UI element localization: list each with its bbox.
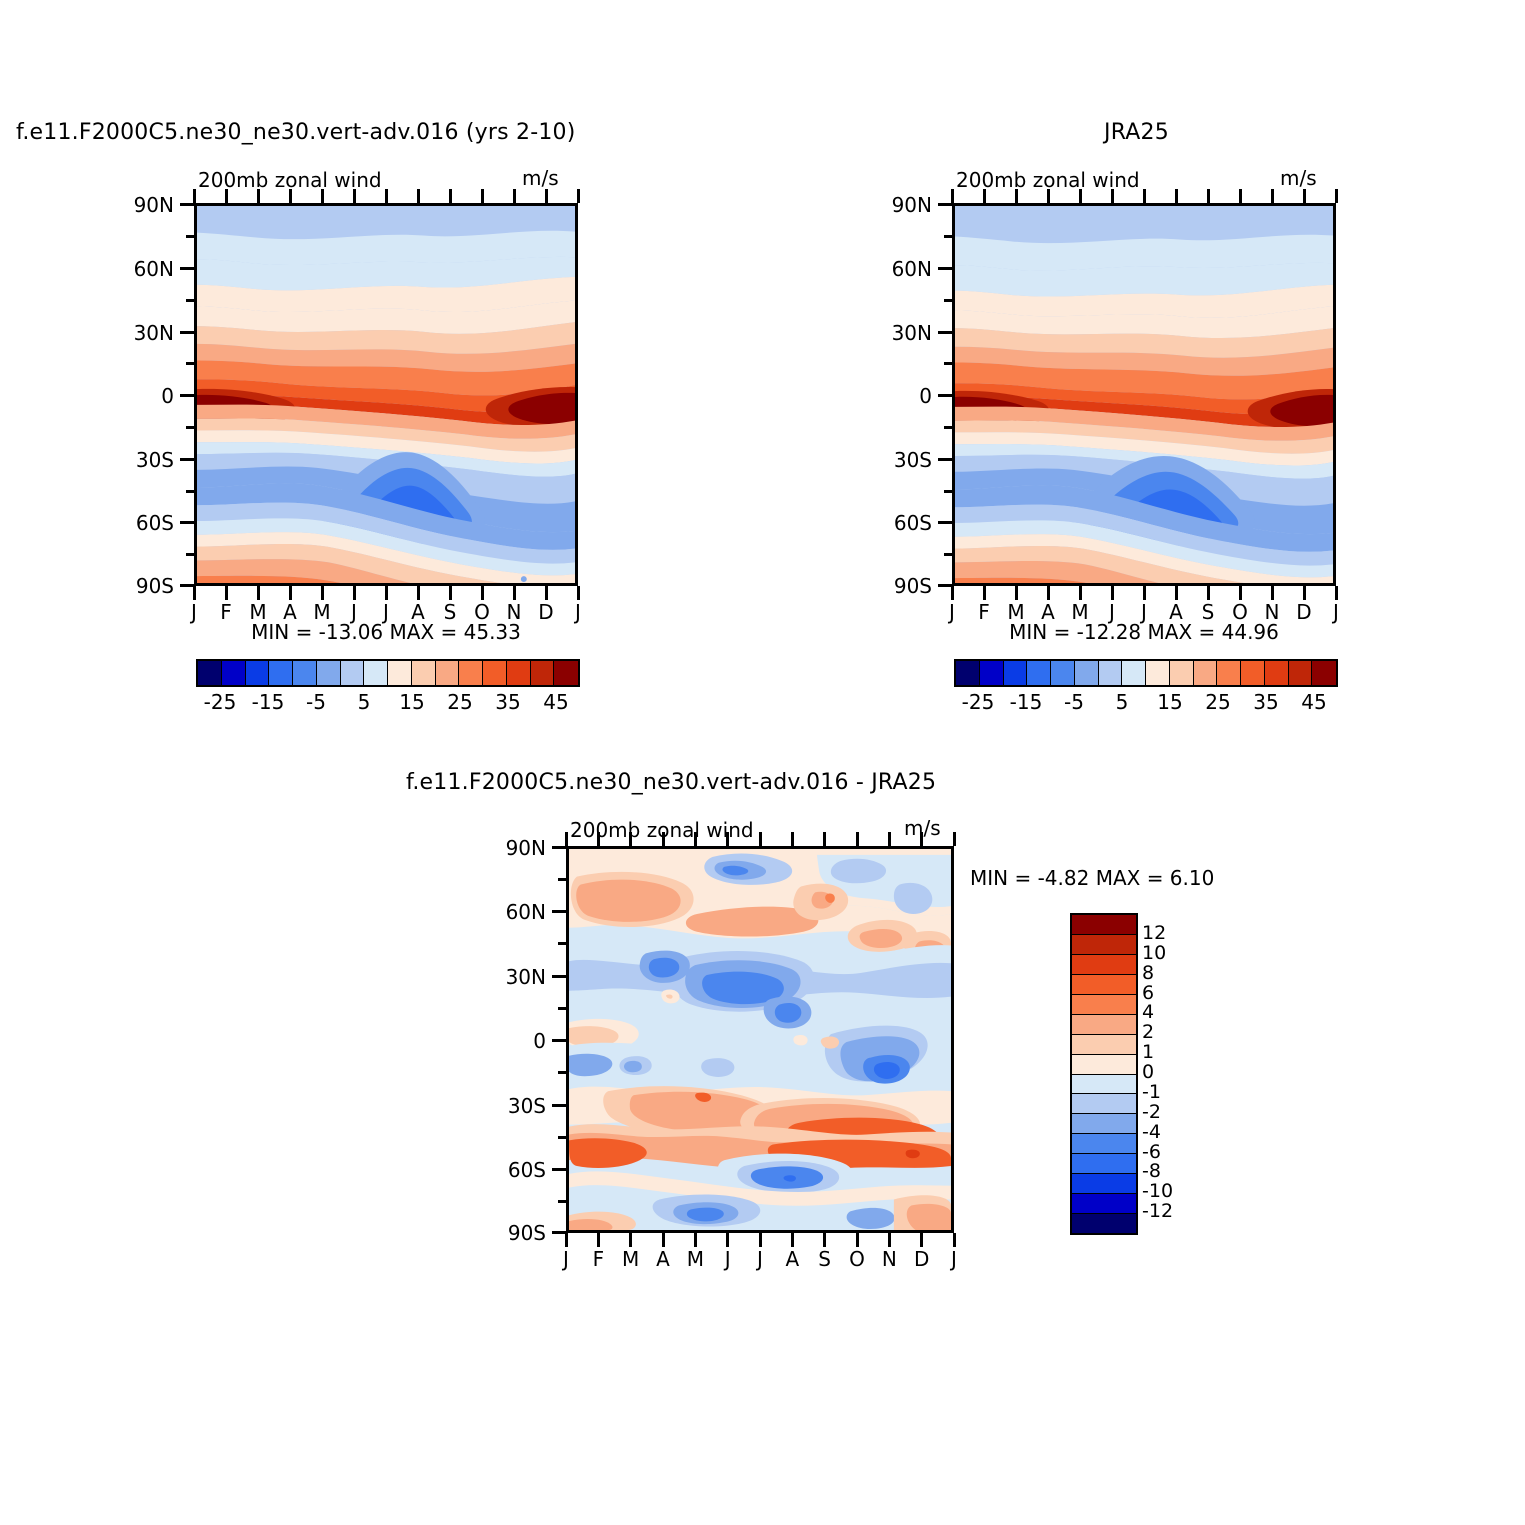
- xaxis-obs-tick-2: [1015, 586, 1018, 600]
- plot-area-model[interactable]: [194, 203, 578, 586]
- colorbar-difference-ticklabel-8: -1: [1142, 1081, 1161, 1103]
- top-tick-12: [953, 832, 956, 846]
- colorbar-difference-ticklabel-1: 10: [1142, 942, 1166, 964]
- xaxis-diff-tick-9: [856, 1233, 859, 1247]
- top-tick-4: [1079, 189, 1082, 203]
- xaxis-diff-month-J-12: J: [934, 1247, 974, 1271]
- ylabel-60s: 60S: [118, 511, 174, 535]
- colorbar-difference-ticklabel-3: 6: [1142, 982, 1154, 1004]
- xaxis-model-tick-2: [257, 586, 260, 600]
- xaxis-diff-tick-1: [597, 1233, 600, 1247]
- ylabel-obs-90n: 90N: [876, 193, 932, 217]
- colorbar-difference-swatch-4: [1072, 995, 1136, 1015]
- colorbar-obs-swatch-8: [1146, 661, 1170, 685]
- xaxis-model-tick-3: [289, 586, 292, 600]
- top-tick-11: [545, 189, 548, 203]
- colorbar-difference-swatch-14: [1072, 1194, 1136, 1214]
- colorbar-difference-ticklabel-10: -4: [1142, 1121, 1161, 1143]
- colorbar-model[interactable]: [196, 659, 580, 687]
- top-tick-7: [1175, 189, 1178, 203]
- xaxis-model-tick-5: [353, 586, 356, 600]
- xaxis-model-tick-7: [417, 586, 420, 600]
- top-tick-5: [726, 832, 729, 846]
- xaxis-diff-tick-4: [694, 1233, 697, 1247]
- colorbar-model-ticklabel-1: -15: [252, 690, 285, 714]
- colorbar-model-swatch-1: [222, 661, 246, 685]
- top-tick-6: [759, 832, 762, 846]
- top-tick-7: [417, 189, 420, 203]
- colorbar-model-swatch-9: [412, 661, 436, 685]
- top-tick-1: [983, 189, 986, 203]
- colorbar-difference-ticklabel-14: -12: [1142, 1200, 1173, 1222]
- xaxis-obs-tick-8: [1207, 586, 1210, 600]
- colorbar-obs-swatch-1: [980, 661, 1004, 685]
- xaxis-model-tick-6: [385, 586, 388, 600]
- colorbar-difference-swatch-12: [1072, 1154, 1136, 1174]
- xaxis-diff-tick-6: [759, 1233, 762, 1247]
- colorbar-obs-swatch-2: [1004, 661, 1028, 685]
- xaxis-model-tick-8: [449, 586, 452, 600]
- top-tick-1: [225, 189, 228, 203]
- colorbar-difference-swatch-3: [1072, 975, 1136, 995]
- colorbar-difference-ticklabel-12: -8: [1142, 1160, 1161, 1182]
- ylabel-diff-90n: 90N: [490, 836, 546, 860]
- xaxis-model-tick-9: [481, 586, 484, 600]
- top-tick-5: [1111, 189, 1114, 203]
- xaxis-obs-tick-11: [1303, 586, 1306, 600]
- xaxis-diff-tick-2: [629, 1233, 632, 1247]
- top-tick-5: [353, 189, 356, 203]
- top-tick-8: [449, 189, 452, 203]
- ylabel-diff-60n: 60N: [490, 900, 546, 924]
- top-tick-11: [920, 832, 923, 846]
- colorbar-model-ticklabel-2: -5: [306, 690, 326, 714]
- top-tick-3: [662, 832, 665, 846]
- colorbar-obs-swatch-14: [1289, 661, 1313, 685]
- colorbar-difference-swatch-13: [1072, 1174, 1136, 1194]
- colorbar-difference-swatch-8: [1072, 1075, 1136, 1095]
- ylabel-obs-90s: 90S: [876, 574, 932, 598]
- colorbar-model-labels: -25-15-5515253545: [196, 690, 576, 718]
- minmax-difference: MIN = -4.82 MAX = 6.10: [970, 866, 1270, 890]
- ylabel-diff-0: 0: [490, 1029, 546, 1053]
- top-tick-9: [1239, 189, 1242, 203]
- colorbar-model-swatch-10: [436, 661, 460, 685]
- top-tick-10: [513, 189, 516, 203]
- top-tick-2: [1015, 189, 1018, 203]
- colorbar-model-swatch-12: [483, 661, 507, 685]
- ylabel-diff-60s: 60S: [490, 1158, 546, 1182]
- colorbar-difference-ticklabel-6: 1: [1142, 1041, 1154, 1063]
- colorbar-difference-swatch-10: [1072, 1114, 1136, 1134]
- xaxis-obs-tick-6: [1143, 586, 1146, 600]
- top-tick-0: [951, 189, 954, 203]
- colorbar-model-swatch-6: [341, 661, 365, 685]
- colorbar-difference-swatch-6: [1072, 1035, 1136, 1055]
- colorbar-obs-ticklabel-6: 35: [1253, 690, 1278, 714]
- top-tick-2: [629, 832, 632, 846]
- colorbar-model-swatch-7: [364, 661, 388, 685]
- xaxis-diff-tick-7: [791, 1233, 794, 1247]
- xaxis-obs-tick-3: [1047, 586, 1050, 600]
- colorbar-model-ticklabel-7: 45: [543, 690, 568, 714]
- xaxis-diff-tick-5: [726, 1233, 729, 1247]
- colorbar-model-ticklabel-5: 25: [447, 690, 472, 714]
- colorbar-obs-swatch-0: [956, 661, 980, 685]
- contour-field-obs: [955, 206, 1333, 583]
- colorbar-model-swatch-11: [459, 661, 483, 685]
- colorbar-difference-swatch-7: [1072, 1055, 1136, 1075]
- xaxis-diff-tick-11: [920, 1233, 923, 1247]
- colorbar-model-swatch-13: [507, 661, 531, 685]
- top-tick-4: [694, 832, 697, 846]
- colorbar-obs-swatch-5: [1075, 661, 1099, 685]
- contour-field-difference: [569, 849, 951, 1230]
- xaxis-model-tick-12: [577, 586, 580, 600]
- colorbar-difference[interactable]: [1070, 913, 1138, 1235]
- top-tick-2: [257, 189, 260, 203]
- xaxis-model-tick-10: [513, 586, 516, 600]
- colorbar-difference-ticklabel-11: -6: [1142, 1141, 1161, 1163]
- panel-obs-units: m/s: [1280, 166, 1317, 190]
- colorbar-obs-labels: -25-15-5515253545: [954, 690, 1334, 718]
- colorbar-obs-ticklabel-4: 15: [1157, 690, 1182, 714]
- xaxis-obs-tick-9: [1239, 586, 1242, 600]
- ylabel-0: 0: [118, 384, 174, 408]
- xaxis-obs-tick-10: [1271, 586, 1274, 600]
- colorbar-obs-swatch-4: [1051, 661, 1075, 685]
- colorbar-model-swatch-15: [554, 661, 578, 685]
- ylabel-obs-30s: 30S: [876, 448, 932, 472]
- top-tick-8: [1207, 189, 1210, 203]
- colorbar-obs-swatch-3: [1027, 661, 1051, 685]
- ylabel-30n: 30N: [118, 321, 174, 345]
- colorbar-obs-swatch-15: [1312, 661, 1336, 685]
- colorbar-model-ticklabel-4: 15: [399, 690, 424, 714]
- xaxis-model-tick-11: [545, 586, 548, 600]
- ylabel-diff-30s: 30S: [490, 1094, 546, 1118]
- panel-obs-title: JRA25: [1104, 120, 1169, 145]
- ylabel-obs-30n: 30N: [876, 321, 932, 345]
- xaxis-diff-tick-12: [953, 1233, 956, 1247]
- colorbar-difference-ticklabel-7: 0: [1142, 1061, 1154, 1083]
- colorbar-difference-swatch-11: [1072, 1134, 1136, 1154]
- xaxis-obs-tick-7: [1175, 586, 1178, 600]
- xaxis-obs-tick-0: [951, 586, 954, 600]
- top-tick-7: [791, 832, 794, 846]
- colorbar-difference-ticklabel-13: -10: [1142, 1180, 1173, 1202]
- plot-area-difference[interactable]: [566, 846, 954, 1233]
- colorbar-model-swatch-14: [531, 661, 555, 685]
- top-tick-0: [565, 832, 568, 846]
- colorbar-difference-ticklabel-0: 12: [1142, 922, 1166, 944]
- top-tick-3: [1047, 189, 1050, 203]
- top-tick-10: [888, 832, 891, 846]
- colorbar-difference-ticklabel-4: 4: [1142, 1001, 1154, 1023]
- colorbar-difference-ticklabel-5: 2: [1142, 1021, 1154, 1043]
- xaxis-diff-tick-8: [823, 1233, 826, 1247]
- colorbar-obs-swatch-9: [1170, 661, 1194, 685]
- colorbar-difference-swatch-9: [1072, 1094, 1136, 1114]
- top-tick-11: [1303, 189, 1306, 203]
- colorbar-obs-ticklabel-1: -15: [1010, 690, 1043, 714]
- colorbar-obs-swatch-10: [1194, 661, 1218, 685]
- colorbar-model-swatch-2: [246, 661, 270, 685]
- ylabel-obs-60n: 60N: [876, 257, 932, 281]
- colorbar-obs-swatch-11: [1217, 661, 1241, 685]
- colorbar-model-swatch-4: [293, 661, 317, 685]
- colorbar-model-swatch-8: [388, 661, 412, 685]
- minmax-obs: MIN = -12.28 MAX = 44.96: [952, 620, 1336, 644]
- top-tick-12: [1335, 189, 1338, 203]
- xaxis-diff-tick-3: [662, 1233, 665, 1247]
- colorbar-difference-swatch-0: [1072, 915, 1136, 935]
- contour-field-model: [197, 206, 575, 583]
- xaxis-obs-tick-4: [1079, 586, 1082, 600]
- xaxis-model-tick-0: [193, 586, 196, 600]
- panel-difference-title: f.e11.F2000C5.ne30_ne30.vert-adv.016 - J…: [406, 770, 936, 795]
- colorbar-obs-swatch-6: [1099, 661, 1123, 685]
- colorbar-model-swatch-3: [269, 661, 293, 685]
- top-tick-12: [577, 189, 580, 203]
- ylabel-90s: 90S: [118, 574, 174, 598]
- plot-area-obs[interactable]: [952, 203, 1336, 586]
- top-tick-1: [597, 832, 600, 846]
- top-tick-6: [1143, 189, 1146, 203]
- top-tick-9: [481, 189, 484, 203]
- colorbar-obs-swatch-13: [1265, 661, 1289, 685]
- colorbar-model-swatch-5: [317, 661, 341, 685]
- colorbar-difference-labels: 1210864210-1-2-4-6-8-10-12: [1142, 913, 1212, 1231]
- ylabel-diff-30n: 30N: [490, 965, 546, 989]
- xaxis-diff-tick-0: [565, 1233, 568, 1247]
- ylabel-obs-60s: 60S: [876, 511, 932, 535]
- ylabel-30s: 30S: [118, 448, 174, 472]
- colorbar-obs-ticklabel-3: 5: [1116, 690, 1129, 714]
- colorbar-model-swatch-0: [198, 661, 222, 685]
- colorbar-difference-swatch-15: [1072, 1214, 1136, 1233]
- colorbar-obs-swatch-7: [1122, 661, 1146, 685]
- top-tick-4: [321, 189, 324, 203]
- colorbar-obs-swatch-12: [1241, 661, 1265, 685]
- colorbar-obs-ticklabel-5: 25: [1205, 690, 1230, 714]
- colorbar-obs-ticklabel-2: -5: [1064, 690, 1084, 714]
- colorbar-difference-swatch-1: [1072, 935, 1136, 955]
- panel-model-title: f.e11.F2000C5.ne30_ne30.vert-adv.016 (yr…: [16, 120, 576, 145]
- ylabel-diff-90s: 90S: [490, 1221, 546, 1245]
- colorbar-difference-ticklabel-9: -2: [1142, 1101, 1161, 1123]
- colorbar-model-ticklabel-3: 5: [358, 690, 371, 714]
- top-tick-8: [823, 832, 826, 846]
- colorbar-obs[interactable]: [954, 659, 1338, 687]
- ylabel-90n: 90N: [118, 193, 174, 217]
- ylabel-obs-0: 0: [876, 384, 932, 408]
- top-tick-3: [289, 189, 292, 203]
- colorbar-model-ticklabel-6: 35: [495, 690, 520, 714]
- xaxis-diff-tick-10: [888, 1233, 891, 1247]
- colorbar-difference-swatch-2: [1072, 955, 1136, 975]
- top-tick-10: [1271, 189, 1274, 203]
- colorbar-difference-swatch-5: [1072, 1015, 1136, 1035]
- xaxis-obs-tick-5: [1111, 586, 1114, 600]
- xaxis-model-tick-1: [225, 586, 228, 600]
- xaxis-obs-tick-1: [983, 586, 986, 600]
- colorbar-obs-ticklabel-7: 45: [1301, 690, 1326, 714]
- colorbar-obs-ticklabel-0: -25: [962, 690, 995, 714]
- colorbar-difference-ticklabel-2: 8: [1142, 962, 1154, 984]
- minmax-model: MIN = -13.06 MAX = 45.33: [194, 620, 578, 644]
- colorbar-model-ticklabel-0: -25: [204, 690, 237, 714]
- panel-model-units: m/s: [522, 166, 559, 190]
- top-tick-9: [856, 832, 859, 846]
- xaxis-obs-tick-12: [1335, 586, 1338, 600]
- ylabel-60n: 60N: [118, 257, 174, 281]
- xaxis-model-tick-4: [321, 586, 324, 600]
- top-tick-6: [385, 189, 388, 203]
- top-tick-0: [193, 189, 196, 203]
